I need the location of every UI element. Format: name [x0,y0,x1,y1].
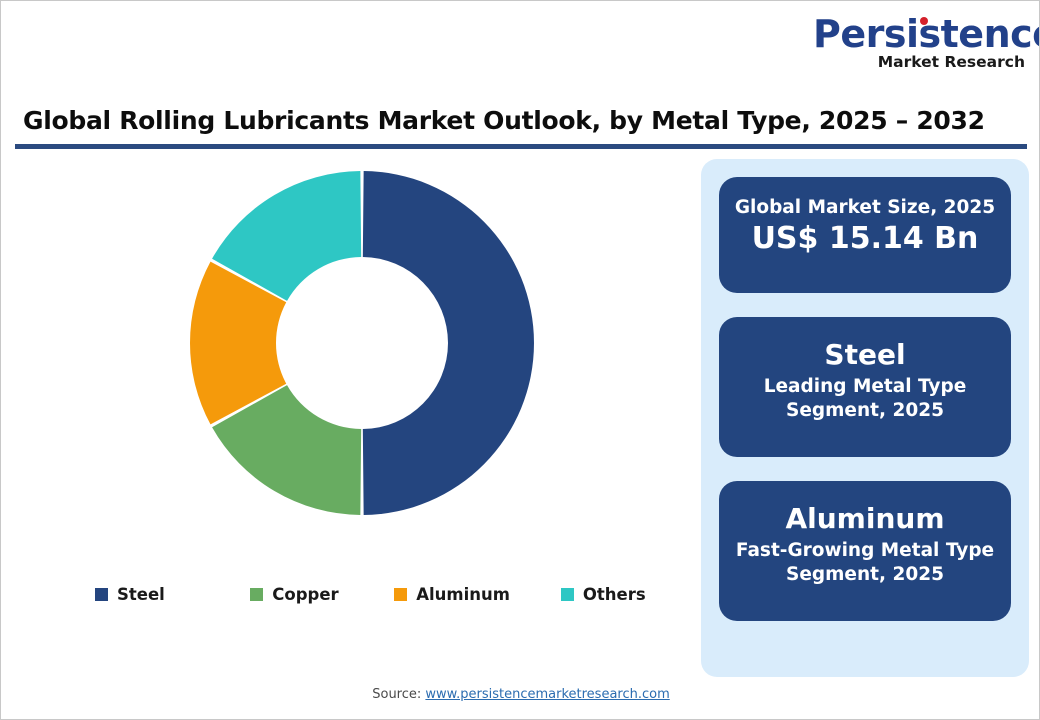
legend-swatch-others [561,588,574,601]
legend-label-aluminum: Aluminum [416,585,510,604]
donut-graphic [187,168,537,518]
leading-segment-caption-line1: Leading Metal Type [719,375,1011,399]
legend-item-others: Others [561,585,665,604]
highlights-panel: Global Market Size, 2025 US$ 15.14 Bn St… [701,159,1029,677]
infographic-page: Persistence Market Research Global Rolli… [0,0,1040,720]
leading-segment-caption-line2: Segment, 2025 [719,399,1011,423]
legend-item-copper: Copper [250,585,394,604]
legend-swatch-aluminum [394,588,407,601]
donut-slice-steel [363,171,534,515]
market-size-card: Global Market Size, 2025 US$ 15.14 Bn [719,177,1011,293]
legend-swatch-steel [95,588,108,601]
market-size-value: US$ 15.14 Bn [719,220,1011,258]
source-label: Source: [372,687,421,702]
title-divider [15,144,1027,149]
fastest-growing-caption-line2: Segment, 2025 [719,563,1011,587]
fastest-growing-name: Aluminum [719,503,1011,535]
source-footer: Source: www.persistencemarketresearch.co… [1,687,1040,702]
source-link[interactable]: www.persistencemarketresearch.com [425,687,669,702]
fastest-growing-card: Aluminum Fast-Growing Metal Type Segment… [719,481,1011,621]
fastest-growing-caption: Fast-Growing Metal Type Segment, 2025 [719,539,1011,586]
fastest-growing-caption-line1: Fast-Growing Metal Type [719,539,1011,563]
legend-label-copper: Copper [272,585,338,604]
brand-logo: Persistence Market Research [813,15,1025,73]
legend-label-steel: Steel [117,585,165,604]
leading-segment-name: Steel [719,339,1011,371]
brand-dot-icon [920,17,928,25]
legend-swatch-copper [250,588,263,601]
legend-label-others: Others [583,585,646,604]
brand-name: Persistence [813,15,1025,53]
donut-chart: Steel Copper Aluminum Others [15,153,687,673]
page-title: Global Rolling Lubricants Market Outlook… [23,106,1019,135]
chart-legend: Steel Copper Aluminum Others [95,585,665,604]
market-size-label: Global Market Size, 2025 [719,197,1011,218]
donut-svg [187,168,537,518]
legend-item-aluminum: Aluminum [394,585,561,604]
leading-segment-caption: Leading Metal Type Segment, 2025 [719,375,1011,422]
legend-item-steel: Steel [95,585,250,604]
brand-tagline: Market Research [813,55,1025,71]
leading-segment-card: Steel Leading Metal Type Segment, 2025 [719,317,1011,457]
